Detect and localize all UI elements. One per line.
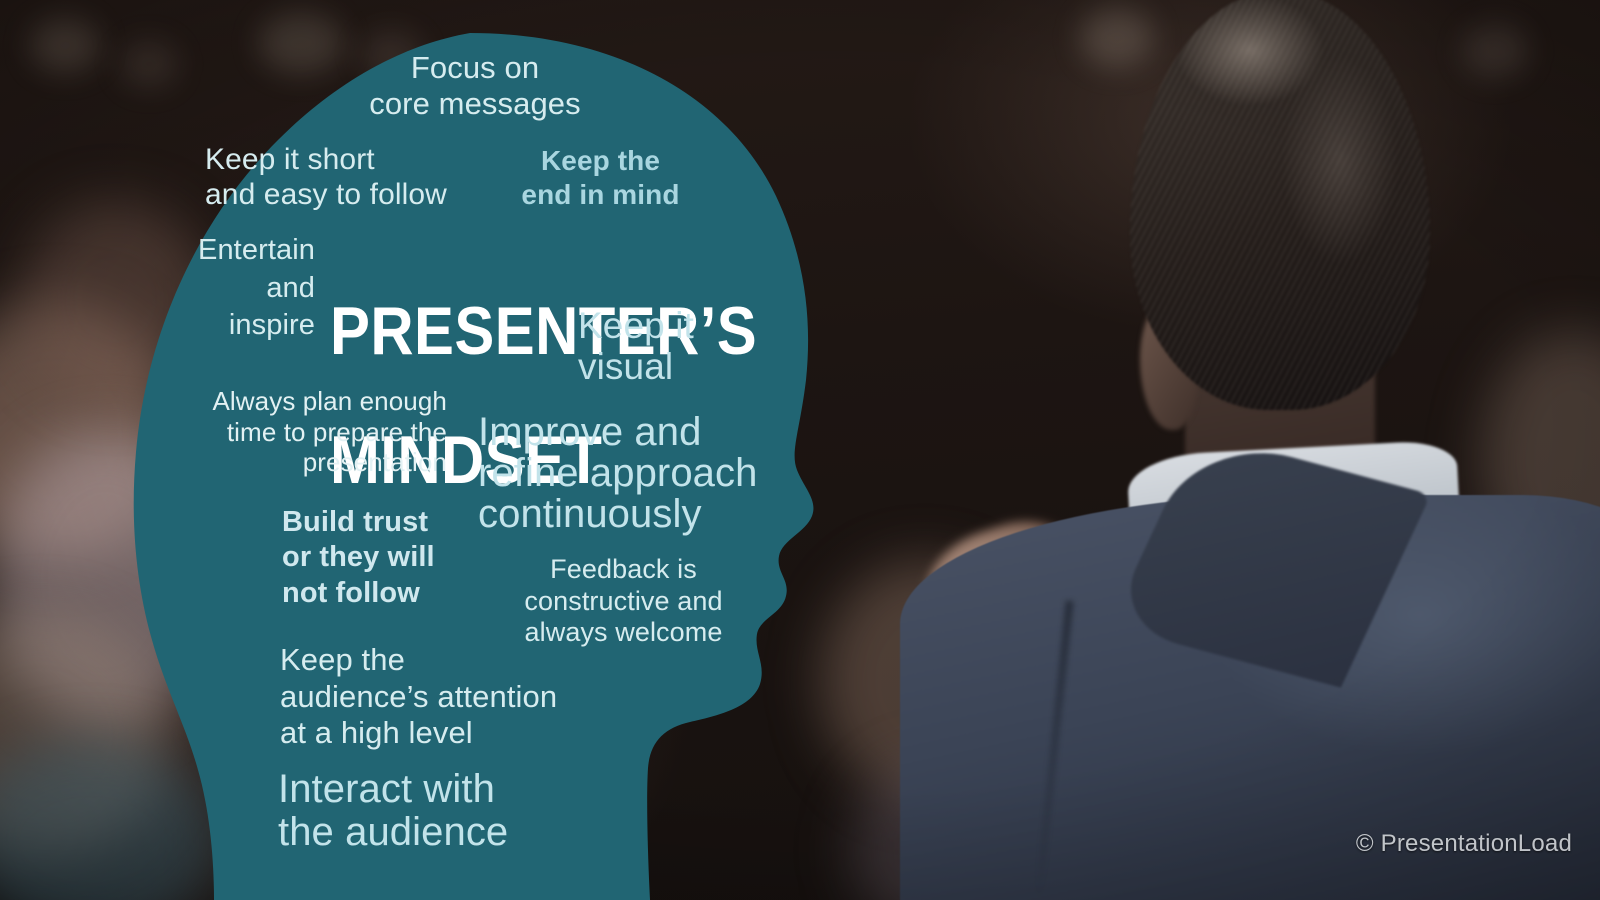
phrase-always-plan-enough-time: Always plan enough time to prepare the p… <box>185 386 447 478</box>
phrase-keep-the-audiences-attention: Keep the audience’s attention at a high … <box>280 642 570 752</box>
phrase-keep-the-end-in-mind: Keep the end in mind <box>498 144 703 212</box>
phrase-keep-it-short: Keep it short and easy to follow <box>205 142 495 212</box>
word-cloud: Focus on core messages Keep it short and… <box>0 0 1600 900</box>
phrase-interact-with-the-audience: Interact with the audience <box>278 768 558 854</box>
slide-canvas: Focus on core messages Keep it short and… <box>0 0 1600 900</box>
phrase-keep-it-visual: Keep it visual <box>578 306 758 387</box>
copyright-watermark: © PresentationLoad <box>1356 830 1572 858</box>
phrase-entertain-and-inspire: Entertain and inspire <box>160 232 315 345</box>
phrase-focus-on-core-messages: Focus on core messages <box>340 50 610 123</box>
phrase-build-trust: Build trust or they will not follow <box>282 505 457 611</box>
phrase-feedback-is-constructive: Feedback is constructive and always welc… <box>516 554 731 649</box>
phrase-improve-and-refine: Improve and refine approach continuously <box>478 412 778 534</box>
page-title-line-1: PRESENTER’S <box>330 299 612 364</box>
